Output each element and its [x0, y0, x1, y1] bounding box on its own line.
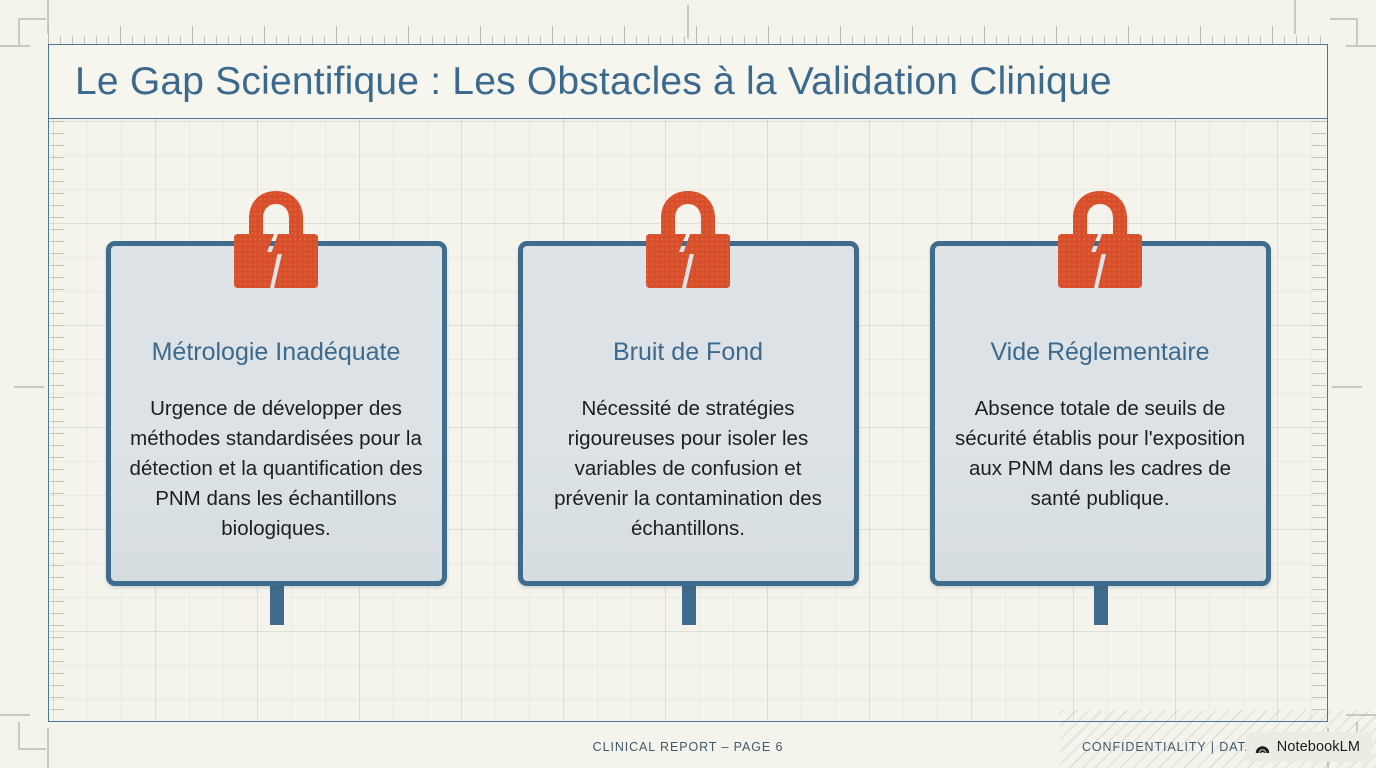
broken-padlock-icon	[646, 188, 730, 292]
card-1[interactable]: Métrologie Inadéquate Urgence de dévelop…	[106, 241, 447, 586]
notebooklm-badge[interactable]: NotebookLM	[1246, 732, 1372, 762]
tick-mark-left-middle	[14, 386, 44, 388]
tick-mark-left-lower	[0, 714, 30, 716]
connector-stem-3	[1094, 581, 1108, 625]
card-wrapper-1: Métrologie Inadéquate Urgence de dévelop…	[106, 241, 447, 586]
card-wrapper-3: Vide Réglementaire Absence totale de seu…	[930, 241, 1271, 586]
cards-row: Métrologie Inadéquate Urgence de dévelop…	[49, 241, 1327, 586]
page-title: Le Gap Scientifique : Les Obstacles à la…	[75, 60, 1112, 104]
card-2[interactable]: Bruit de Fond Nécessité de stratégies ri…	[518, 241, 859, 586]
card-description-2: Nécessité de stratégies rigoureuses pour…	[540, 394, 837, 545]
broken-padlock-icon	[234, 188, 318, 292]
card-title-1: Métrologie Inadéquate	[128, 338, 425, 367]
content-frame: Le Gap Scientifique : Les Obstacles à la…	[48, 44, 1328, 722]
ruler-strip-top	[48, 26, 1328, 44]
card-title-2: Bruit de Fond	[540, 338, 837, 367]
card-wrapper-2: Bruit de Fond Nécessité de stratégies ri…	[518, 241, 859, 586]
notebooklm-label: NotebookLM	[1277, 739, 1360, 755]
connector-stem-1	[270, 581, 284, 625]
card-title-3: Vide Réglementaire	[952, 338, 1249, 367]
tick-mark-left-upper	[0, 45, 30, 47]
card-3[interactable]: Vide Réglementaire Absence totale de seu…	[930, 241, 1271, 586]
card-description-3: Absence totale de seuils de sécurité éta…	[952, 394, 1249, 515]
title-band: Le Gap Scientifique : Les Obstacles à la…	[49, 45, 1327, 119]
registration-mark-top-left	[18, 18, 46, 46]
confidentiality-label: CONFIDENTIALITY | DATA	[1082, 740, 1254, 754]
slide-canvas: Le Gap Scientifique : Les Obstacles à la…	[0, 0, 1376, 768]
notebooklm-spiral-icon	[1254, 740, 1271, 755]
registration-mark-top-right	[1330, 18, 1358, 46]
tick-mark-right-upper	[1346, 45, 1376, 47]
card-description-1: Urgence de développer des méthodes stand…	[128, 394, 425, 545]
broken-padlock-icon	[1058, 188, 1142, 292]
tick-mark-right-middle	[1332, 386, 1362, 388]
connector-stem-2	[682, 581, 696, 625]
